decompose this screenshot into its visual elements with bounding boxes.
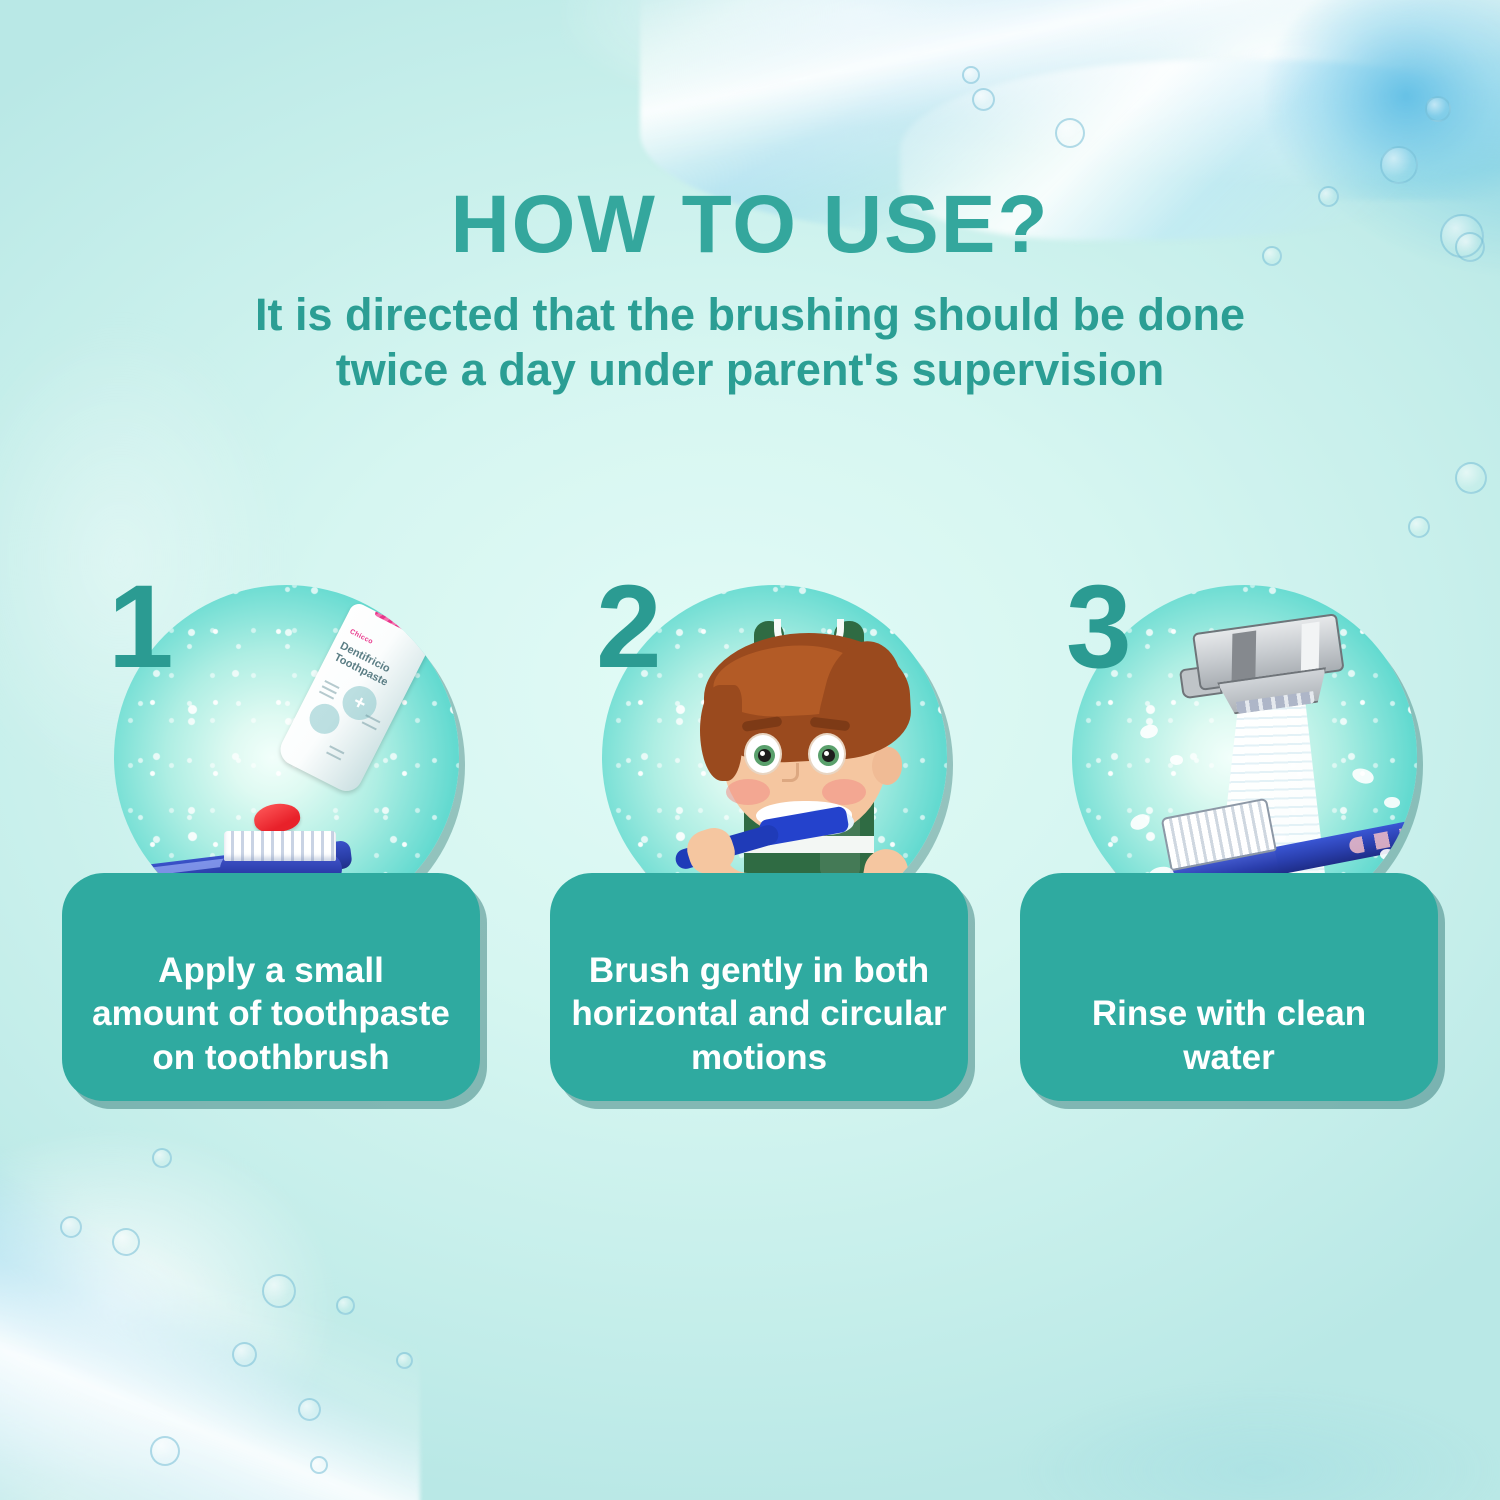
step-card-2: 2 — [550, 560, 975, 1105]
water-ribbon-bottom-left — [0, 1130, 420, 1500]
toothpaste-tube-icon: Chicco Dentifricio Toothpaste + — [275, 601, 433, 797]
iris — [754, 745, 775, 766]
bubble-icon — [310, 1456, 328, 1474]
step-2-caption-card: Brush gently in both horizontal and circ… — [550, 873, 968, 1101]
faucet-dark-band — [1232, 631, 1257, 685]
bubble-icon — [150, 1436, 180, 1466]
bubble-icon — [1455, 462, 1487, 494]
step-2-caption-text: Brush gently in both horizontal and circ… — [550, 949, 968, 1079]
step-1-caption-card: Apply a small amount of toothpaste on to… — [62, 873, 480, 1101]
pupil — [758, 749, 771, 762]
water-droplet — [1384, 797, 1400, 808]
step-number-1: 1 — [108, 568, 174, 686]
step-card-3: 3 — [1020, 560, 1445, 1105]
bubble-icon — [232, 1342, 257, 1367]
child-hair-sideburn — [700, 685, 742, 781]
water-droplet — [1380, 849, 1395, 860]
child-cheek-right — [822, 779, 866, 805]
pupil — [822, 749, 835, 762]
water-droplet — [1128, 811, 1152, 833]
bubble-icon — [972, 88, 995, 111]
bubble-icon — [396, 1352, 413, 1369]
page-title: HOW TO USE? — [0, 184, 1500, 266]
poster-header: HOW TO USE? It is directed that the brus… — [0, 184, 1500, 398]
child-eye-right — [808, 733, 846, 775]
bubble-icon — [962, 66, 980, 84]
step-1-caption-text: Apply a small amount of toothpaste on to… — [62, 949, 480, 1079]
tube-tick-line — [362, 721, 377, 730]
child-cheek-left — [726, 779, 770, 805]
water-deep-blue-top-right — [1230, 0, 1500, 200]
step-number-3: 3 — [1066, 568, 1132, 686]
child-ear — [872, 747, 902, 785]
water-droplet — [1138, 722, 1159, 740]
bubble-icon — [336, 1296, 355, 1315]
toothbrush-bristles — [224, 831, 336, 861]
bubble-icon — [1380, 146, 1418, 184]
bubble-icon — [1425, 96, 1451, 122]
iris — [818, 745, 839, 766]
water-glow-bottom-right — [980, 1330, 1500, 1500]
child-eye-left — [744, 733, 782, 775]
bubble-icon — [152, 1148, 172, 1168]
page-subtitle: It is directed that the brushing should … — [170, 288, 1330, 398]
tube-cap-icon — [374, 601, 423, 635]
tube-tick-line — [326, 752, 341, 761]
step-card-1: 1 Chicco Dentifricio Toothpaste + — [62, 560, 487, 1105]
step-3-caption-text: Rinse with clean water — [1020, 992, 1438, 1079]
bubble-icon — [1408, 516, 1430, 538]
child-nose — [782, 763, 799, 782]
bubble-icon — [112, 1228, 140, 1256]
how-to-use-poster: HOW TO USE? It is directed that the brus… — [0, 0, 1500, 1500]
faucet-head-icon — [1174, 611, 1366, 731]
toothpaste-blob-icon — [252, 801, 301, 835]
steps-row: 1 Chicco Dentifricio Toothpaste + — [0, 560, 1500, 1120]
faucet-light-band — [1301, 622, 1320, 675]
water-splash-bottom-left — [0, 1080, 500, 1500]
bubble-icon — [60, 1216, 82, 1238]
step-3-caption-card: Rinse with clean water — [1020, 873, 1438, 1101]
step-number-2: 2 — [596, 568, 662, 686]
bubble-icon — [1055, 118, 1085, 148]
water-droplet — [1170, 755, 1183, 765]
water-droplet — [1350, 766, 1375, 786]
tube-label-text: Dentifricio Toothpaste — [332, 640, 409, 696]
bubble-icon — [262, 1274, 296, 1308]
bubble-icon — [298, 1398, 321, 1421]
